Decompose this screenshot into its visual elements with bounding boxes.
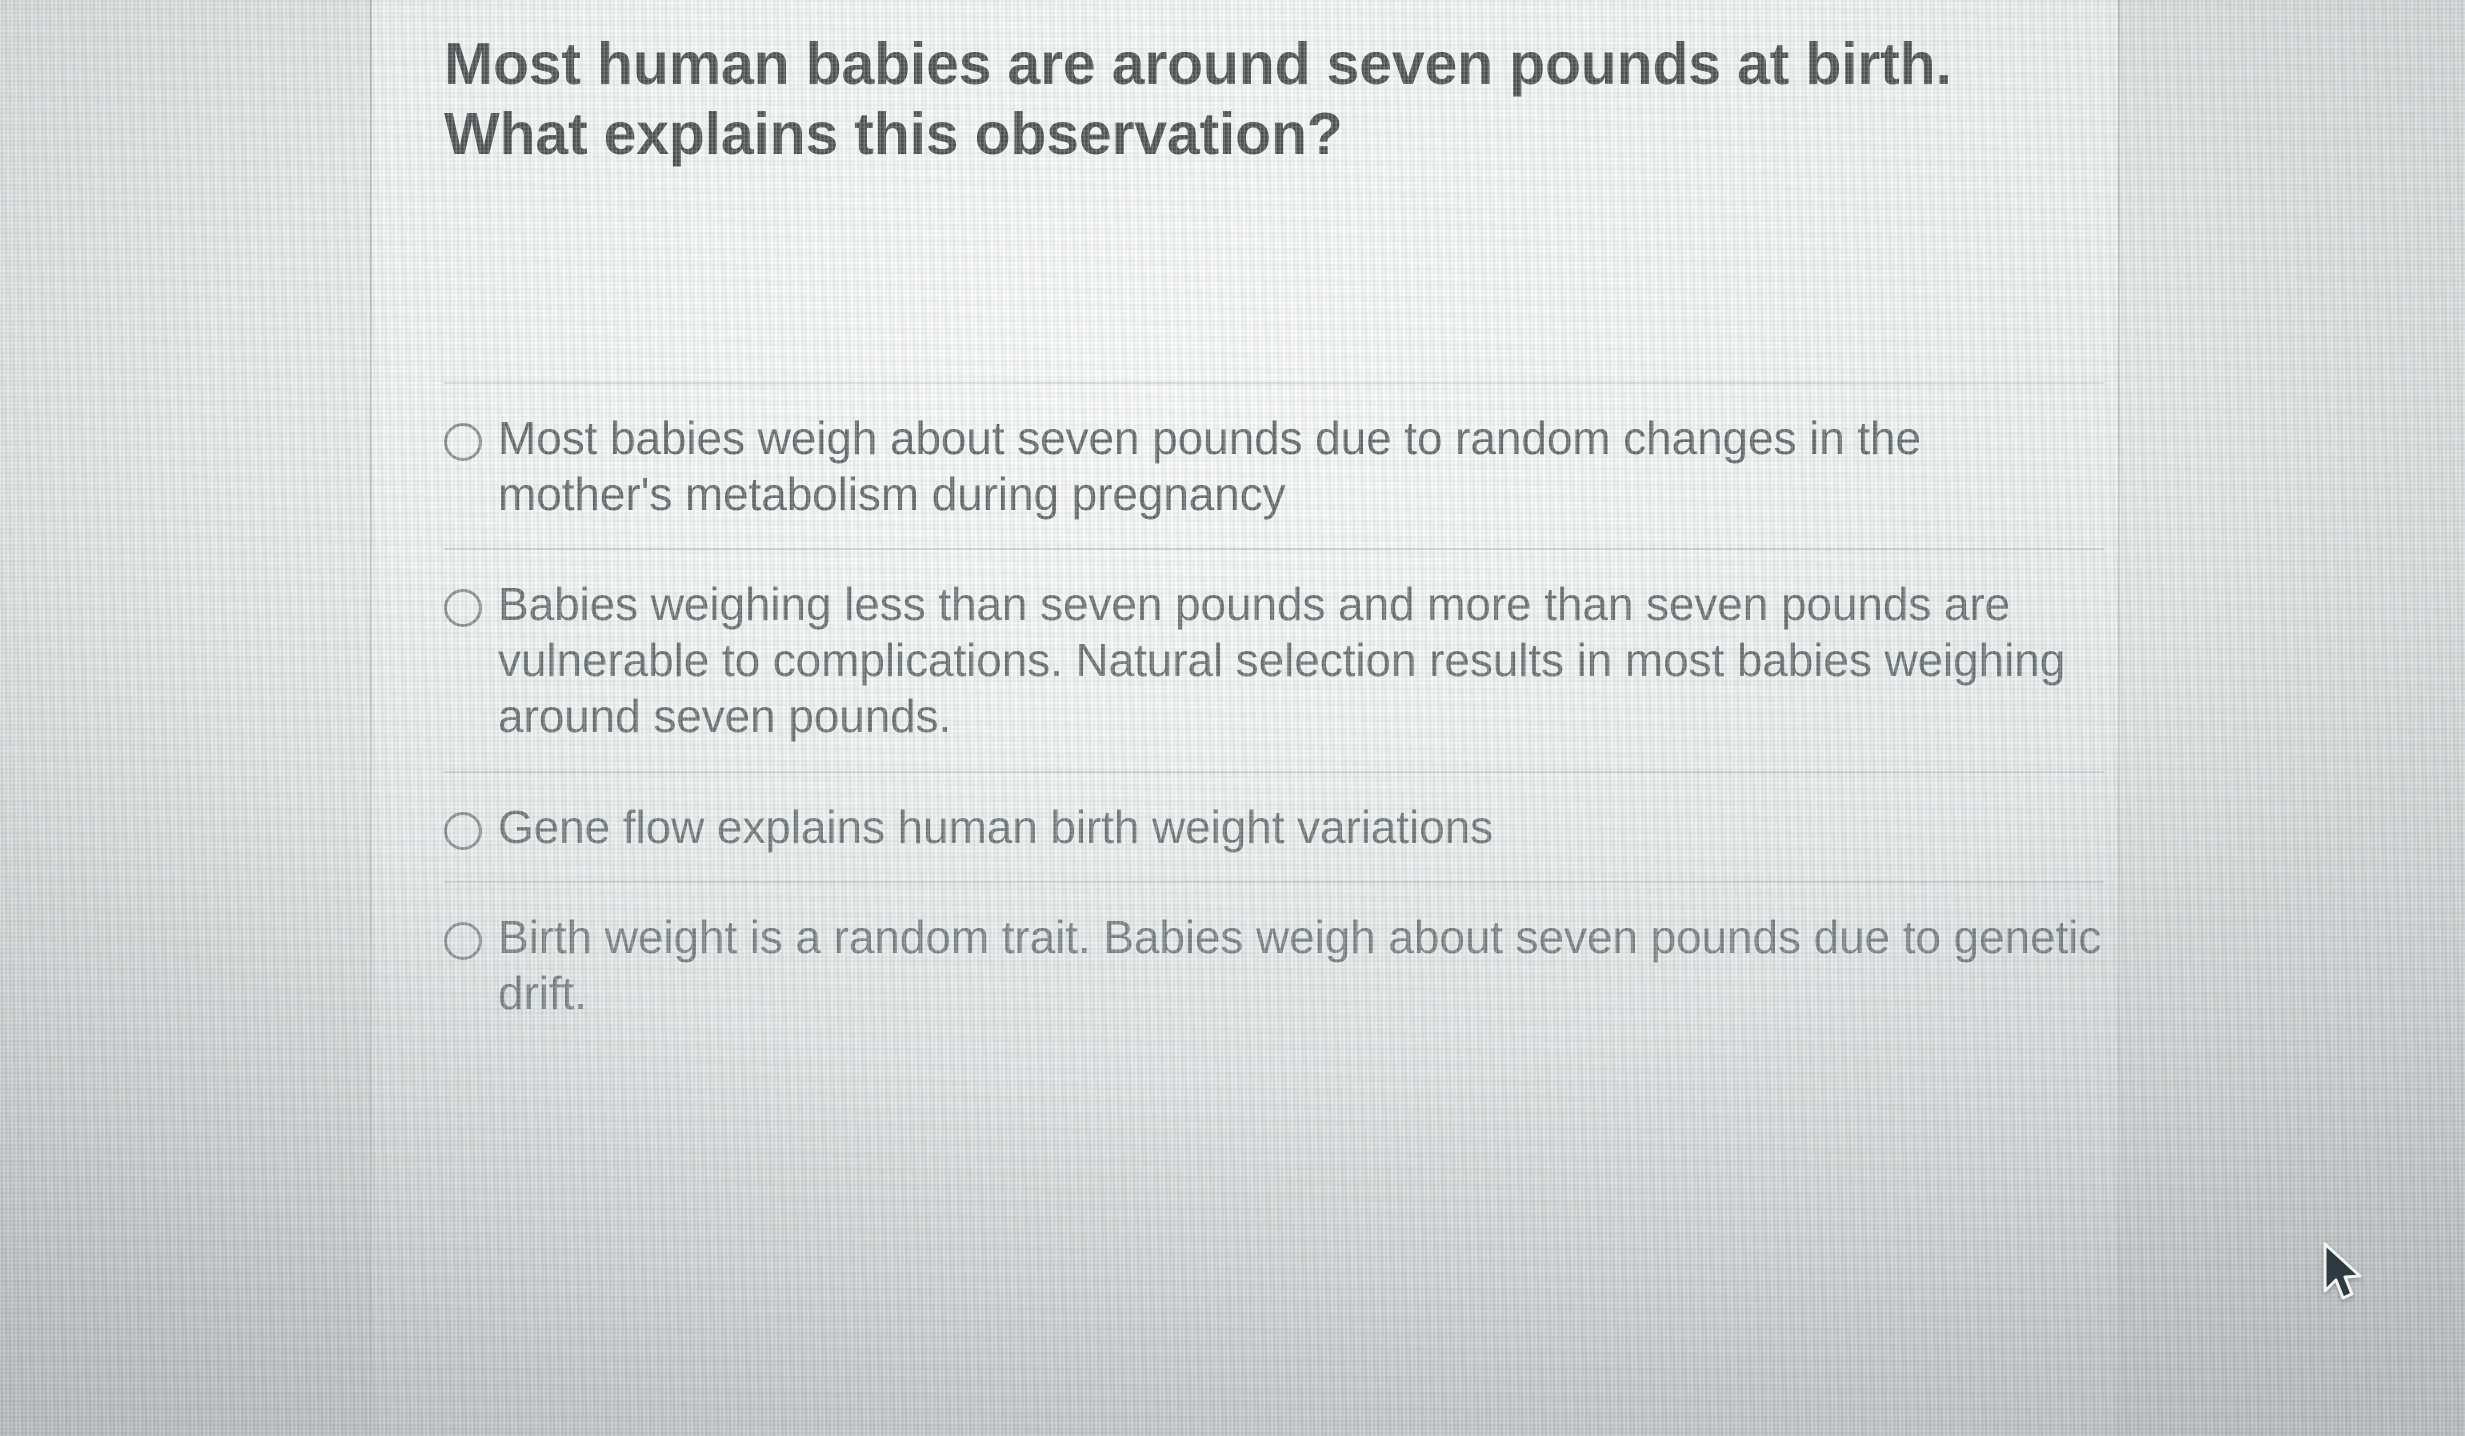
- radio-button-icon[interactable]: [444, 922, 482, 960]
- answer-option-a-label: Most babies weigh about seven pounds due…: [498, 410, 2104, 522]
- radio-button-icon[interactable]: [444, 589, 482, 627]
- quiz-content: Most human babies are around seven pound…: [0, 0, 2465, 1436]
- screen-photo: Most human babies are around seven pound…: [0, 0, 2465, 1436]
- question-title: Most human babies are around seven pound…: [444, 30, 2104, 169]
- answer-option-a[interactable]: Most babies weigh about seven pounds due…: [444, 382, 2104, 548]
- answer-option-c[interactable]: Gene flow explains human birth weight va…: [444, 771, 2104, 881]
- answer-option-c-label: Gene flow explains human birth weight va…: [498, 799, 2104, 855]
- radio-button-icon[interactable]: [444, 812, 482, 850]
- radio-button-icon[interactable]: [444, 423, 482, 461]
- answer-option-b[interactable]: Babies weighing less than seven pounds a…: [444, 548, 2104, 770]
- answer-option-d-label: Birth weight is a random trait. Babies w…: [498, 909, 2104, 1021]
- answer-option-b-label: Babies weighing less than seven pounds a…: [498, 576, 2104, 744]
- answer-options-list: Most babies weigh about seven pounds due…: [444, 382, 2104, 1047]
- answer-option-d[interactable]: Birth weight is a random trait. Babies w…: [444, 881, 2104, 1047]
